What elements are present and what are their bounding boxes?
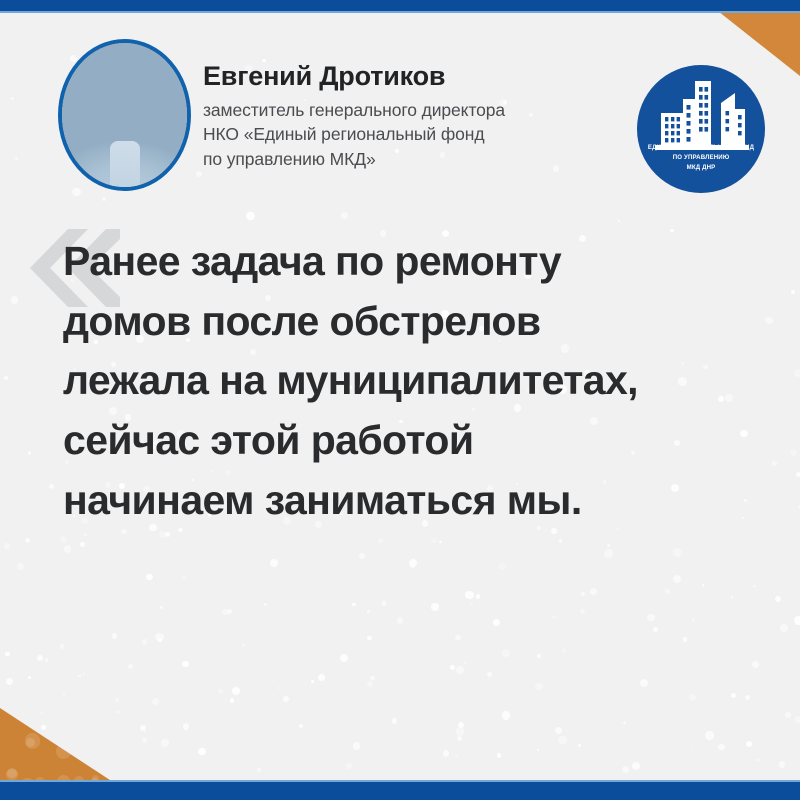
organization-logo: ЕДИНЫЙ РЕГИОНАЛЬНЫЙ ФОНД ПО УПРАВЛЕНИЮ М… bbox=[637, 65, 765, 193]
speaker-header: Евгений Дротиков заместитель генеральног… bbox=[0, 13, 800, 198]
speaker-role: заместитель генерального директора НКО «… bbox=[203, 98, 623, 170]
speaker-role-line: НКО «Единый региональный фонд bbox=[203, 122, 623, 146]
quote-line: Ранее задача по ремонту bbox=[63, 232, 763, 292]
top-blue-bar-hairline bbox=[0, 11, 800, 13]
quote-line: начинаем заниматься мы. bbox=[63, 471, 763, 531]
buildings-icon bbox=[637, 65, 765, 193]
quote-card: Евгений Дротиков заместитель генеральног… bbox=[0, 0, 800, 800]
logo-text: ЕДИНЫЙ РЕГИОНАЛЬНЫЙ ФОНД ПО УПРАВЛЕНИЮ М… bbox=[637, 143, 765, 173]
quote-line: лежала на муниципалитетах, bbox=[63, 351, 763, 411]
speaker-name: Евгений Дротиков bbox=[203, 61, 623, 92]
top-blue-bar bbox=[0, 0, 800, 11]
quote-line: домов после обстрелов bbox=[63, 292, 763, 352]
quote-text: Ранее задача по ремонту домов после обст… bbox=[63, 232, 763, 530]
logo-text-line: ЕДИНЫЙ РЕГИОНАЛЬНЫЙ ФОНД bbox=[637, 143, 765, 153]
logo-text-line: МКД ДНР bbox=[637, 163, 765, 173]
bottom-blue-bar bbox=[0, 782, 800, 800]
speaker-role-line: заместитель генерального директора bbox=[203, 98, 623, 122]
speaker-role-line: по управлению МКД» bbox=[203, 147, 623, 171]
avatar-photo bbox=[62, 43, 187, 187]
speaker-info: Евгений Дротиков заместитель генеральног… bbox=[203, 61, 623, 171]
avatar bbox=[58, 39, 191, 191]
logo-text-line: ПО УПРАВЛЕНИЮ bbox=[637, 153, 765, 163]
quote-line: сейчас этой работой bbox=[63, 411, 763, 471]
